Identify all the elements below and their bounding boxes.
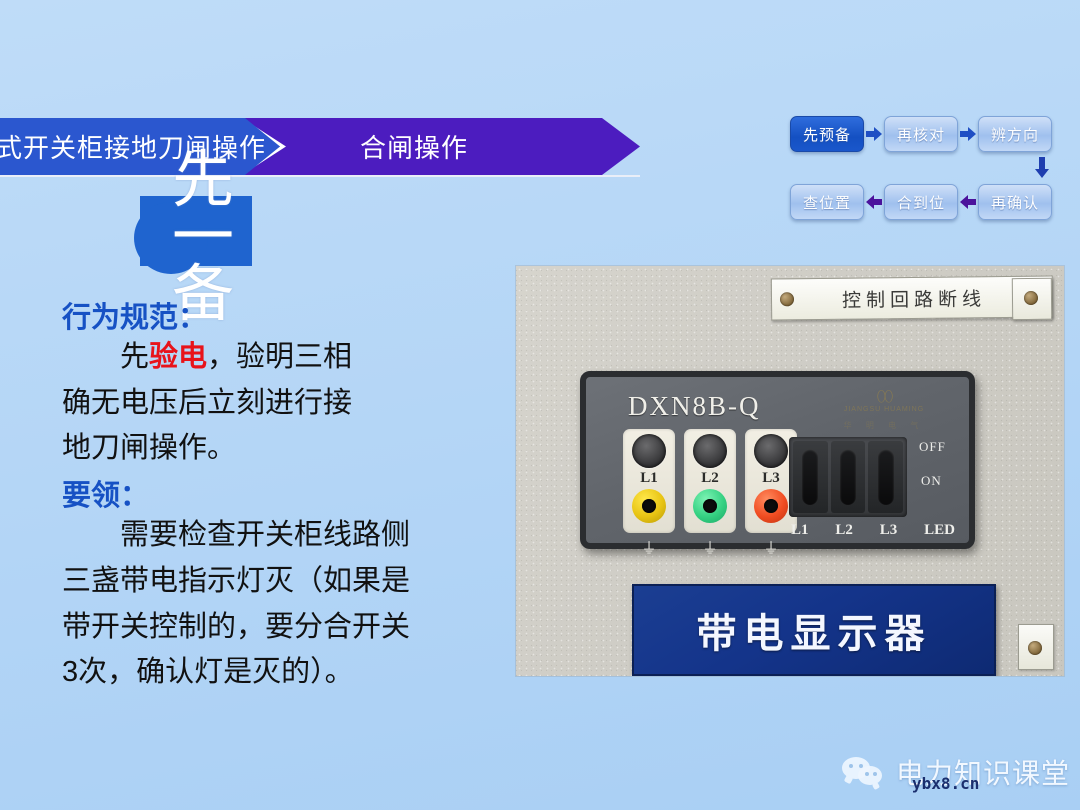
rocker-switch-l2[interactable] bbox=[831, 441, 866, 513]
flow-row-top: 先预备 再核对 辨方向 bbox=[790, 116, 1074, 152]
ground-symbol-icon: ⏚ bbox=[745, 541, 797, 556]
indicator-lamp-icon bbox=[754, 434, 788, 468]
indicator-lamp-icon bbox=[632, 434, 666, 468]
screw-icon bbox=[780, 292, 794, 306]
arrow-left-icon bbox=[958, 195, 978, 209]
phase-label: L3 bbox=[762, 470, 780, 487]
phase-module-l1: L1 ⏚ bbox=[623, 429, 675, 533]
decor-blue-shape bbox=[140, 196, 252, 266]
test-socket-l1 bbox=[632, 489, 666, 523]
corner-label-plate bbox=[1018, 624, 1054, 670]
switch-label-led: LED bbox=[924, 522, 955, 539]
banner-stage-title: 式开关柜接地刀闸操作 bbox=[0, 118, 280, 175]
brand-sub-text: 华 明 电 气 bbox=[829, 420, 939, 431]
slide-canvas: 合闸操作 式开关柜接地刀闸操作 先 一 备 行为规范： 先验电，验明三相 确无电… bbox=[0, 0, 1080, 810]
ground-symbol-icon: ⏚ bbox=[684, 541, 736, 556]
arrow-right-icon bbox=[864, 127, 884, 141]
paragraph-1-line-3: 地刀闸操作。 bbox=[62, 430, 514, 468]
flow-step-6-label: 查位置 bbox=[803, 192, 851, 213]
paragraph-2-line-4: 3次，确认灯是灭的）。 bbox=[62, 654, 514, 692]
control-circuit-label-text: 控制回路断线 bbox=[818, 284, 1006, 313]
screw-icon bbox=[1024, 291, 1038, 305]
para1-pre: 先 bbox=[120, 341, 149, 373]
paragraph-2-line-1: 需要检查开关柜线路侧 bbox=[62, 517, 514, 555]
phase-indicator-group: L1 ⏚ L2 ⏚ L3 ⏚ bbox=[623, 429, 797, 533]
paragraph-1-line-2: 确无电压后立刻进行接 bbox=[62, 385, 514, 423]
paragraph-2-line-2: 三盏带电指示灯灭（如果是 bbox=[62, 563, 514, 601]
switch-label-l1: L1 bbox=[791, 522, 809, 539]
flow-step-3-label: 辨方向 bbox=[991, 124, 1039, 145]
flow-step-5[interactable]: 合到位 bbox=[884, 184, 958, 220]
banner-stage-current: 合闸操作 bbox=[242, 118, 640, 175]
switch-label-l3: L3 bbox=[880, 522, 898, 539]
banner-right-label: 合闸操作 bbox=[360, 128, 468, 165]
live-display-device: DXN8B-Q ⬯⬯ JIANGSU HUAMING 华 明 电 气 L1 ⏚ … bbox=[580, 371, 975, 549]
device-model-text: DXN8B-Q bbox=[628, 391, 761, 422]
nameplate-text: 带电显示器 bbox=[697, 601, 932, 659]
arrow-right-icon bbox=[958, 127, 978, 141]
test-socket-l2 bbox=[693, 489, 727, 523]
switch-channel-labels: L1 L2 L3 LED bbox=[791, 522, 955, 539]
site-url: ybx8.cn bbox=[912, 774, 979, 793]
rocker-switch-l3[interactable] bbox=[868, 441, 903, 513]
arrow-left-icon bbox=[864, 195, 884, 209]
heading-behavior-norm: 行为规范： bbox=[62, 300, 514, 337]
phase-label: L2 bbox=[701, 470, 719, 487]
brand-name-text: JIANGSU HUAMING bbox=[829, 406, 939, 413]
indicator-lamp-icon bbox=[693, 434, 727, 468]
flow-step-2[interactable]: 再核对 bbox=[884, 116, 958, 152]
flow-step-1[interactable]: 先预备 bbox=[790, 116, 864, 152]
flow-step-4[interactable]: 再确认 bbox=[978, 184, 1052, 220]
flow-step-6[interactable]: 查位置 bbox=[790, 184, 864, 220]
procedure-flow-diagram: 先预备 再核对 辨方向 查位置 bbox=[790, 116, 1074, 232]
banner-left-label: 式开关柜接地刀闸操作 bbox=[0, 128, 266, 165]
device-brand: ⬯⬯ JIANGSU HUAMING 华 明 电 气 bbox=[829, 389, 939, 431]
live-display-nameplate: 带电显示器 bbox=[632, 584, 996, 676]
side-label-plate bbox=[1012, 278, 1052, 320]
paragraph-2-line-3: 带开关控制的，要分合开关 bbox=[62, 609, 514, 647]
switch-on-label: ON bbox=[921, 473, 942, 489]
heading-key-points: 要领： bbox=[62, 478, 514, 515]
ground-symbol-icon: ⏚ bbox=[623, 541, 675, 556]
screw-icon bbox=[1028, 641, 1042, 655]
paragraph-1-line-1: 先验电，验明三相 bbox=[62, 339, 514, 377]
rocker-switch-l1[interactable] bbox=[793, 441, 828, 513]
wechat-icon bbox=[842, 755, 888, 789]
title-banner: 合闸操作 式开关柜接地刀闸操作 bbox=[0, 118, 640, 175]
arrow-down-icon bbox=[1030, 154, 1054, 182]
wechat-text-group: 电力知识课堂 ybx8.cn bbox=[896, 752, 1070, 792]
rocker-switch-bank[interactable] bbox=[789, 437, 907, 517]
phase-label: L1 bbox=[640, 470, 658, 487]
para1-post: ，验明三相 bbox=[207, 341, 352, 373]
flow-step-3[interactable]: 辨方向 bbox=[978, 116, 1052, 152]
test-socket-l3 bbox=[754, 489, 788, 523]
phase-module-l2: L2 ⏚ bbox=[684, 429, 736, 533]
flow-step-4-label: 再确认 bbox=[991, 192, 1039, 213]
equipment-photo: 控制回路断线 DXN8B-Q ⬯⬯ JIANGSU HUAMING 华 明 电 … bbox=[516, 266, 1064, 676]
switch-off-label: OFF bbox=[919, 439, 946, 455]
para1-highlight: 验电 bbox=[149, 341, 207, 373]
flow-step-1-label: 先预备 bbox=[803, 124, 851, 145]
flow-step-5-label: 合到位 bbox=[897, 192, 945, 213]
switch-label-l2: L2 bbox=[835, 522, 853, 539]
banner-underline bbox=[0, 175, 640, 177]
flow-row-bottom: 查位置 合到位 再确认 bbox=[790, 184, 1074, 220]
body-text-block: 行为规范： 先验电，验明三相 确无电压后立刻进行接 地刀闸操作。 要领： 需要检… bbox=[62, 300, 514, 700]
brand-logo-icon: ⬯⬯ bbox=[829, 389, 939, 404]
flow-step-2-label: 再核对 bbox=[897, 124, 945, 145]
wechat-watermark: 电力知识课堂 ybx8.cn bbox=[842, 752, 1070, 792]
